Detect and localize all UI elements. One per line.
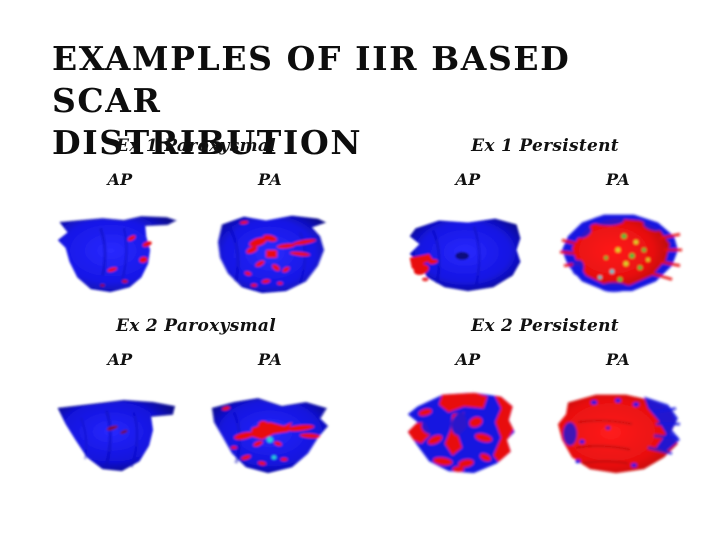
view-ex2-paroxysmal-pa: PA bbox=[200, 350, 340, 477]
view-label-pa: PA bbox=[548, 350, 688, 369]
panel-ex1-persistent: Ex 1 Persistent AP bbox=[400, 136, 690, 286]
view-label-ap: AP bbox=[52, 170, 188, 189]
scar-map-ex1-persistent-pa bbox=[548, 199, 688, 297]
view-label-pa: PA bbox=[200, 350, 340, 369]
panel-title-ex1-persistent: Ex 1 Persistent bbox=[400, 136, 690, 156]
scar-map-ex2-persistent-pa bbox=[548, 379, 688, 477]
view-label-pa: PA bbox=[548, 170, 688, 189]
panel-title-ex2-paroxysmal: Ex 2 Paroxysmal bbox=[52, 316, 340, 336]
scar-map-ex2-persistent-ap bbox=[400, 379, 536, 477]
view-ex2-paroxysmal-ap: AP bbox=[52, 350, 188, 477]
panel-ex1-paroxysmal: Ex 1 Paroxysmal AP bbox=[52, 136, 340, 286]
view-ex1-paroxysmal-pa: PA bbox=[200, 170, 340, 297]
view-ex1-persistent-pa: PA bbox=[548, 170, 688, 297]
scar-map-ex1-paroxysmal-pa bbox=[200, 199, 340, 297]
view-ex2-persistent-pa: PA bbox=[548, 350, 688, 477]
scar-map-ex2-paroxysmal-ap bbox=[52, 379, 188, 477]
view-ex2-persistent-ap: AP bbox=[400, 350, 536, 477]
view-ex1-paroxysmal-ap: AP bbox=[52, 170, 188, 297]
panel-ex2-paroxysmal: Ex 2 Paroxysmal AP bbox=[52, 316, 340, 466]
view-label-pa: PA bbox=[200, 170, 340, 189]
panel-ex2-persistent: Ex 2 Persistent AP bbox=[400, 316, 690, 466]
view-label-ap: AP bbox=[400, 170, 536, 189]
view-ex1-persistent-ap: AP bbox=[400, 170, 536, 297]
view-label-ap: AP bbox=[400, 350, 536, 369]
scar-map-ex2-paroxysmal-pa bbox=[200, 379, 340, 477]
scar-map-ex1-paroxysmal-ap bbox=[52, 199, 188, 297]
panel-title-ex1-paroxysmal: Ex 1 Paroxysmal bbox=[52, 136, 340, 156]
view-label-ap: AP bbox=[52, 350, 188, 369]
scar-map-ex1-persistent-ap bbox=[400, 199, 536, 297]
panel-title-ex2-persistent: Ex 2 Persistent bbox=[400, 316, 690, 336]
